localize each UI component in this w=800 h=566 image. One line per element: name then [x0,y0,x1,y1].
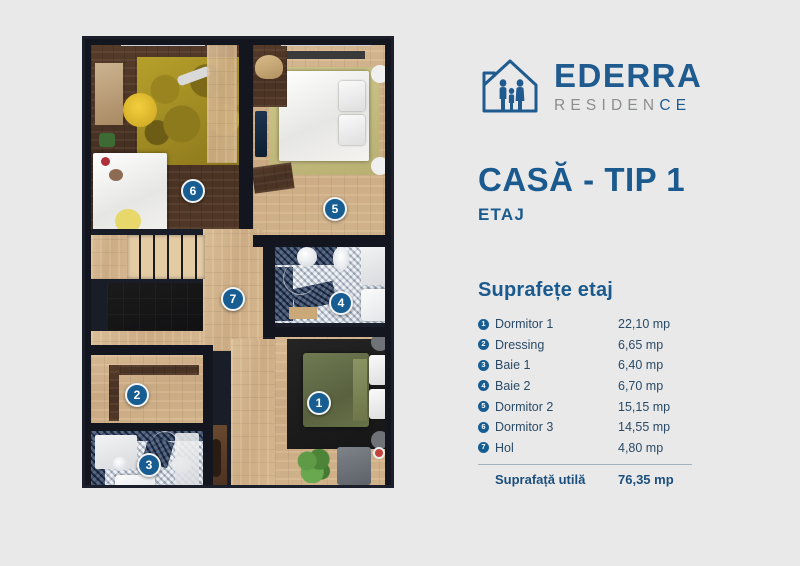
badge-label: 7 [230,292,237,306]
table-divider [478,464,692,466]
row-number: 2 [478,339,489,350]
room-dormitor-2 [253,45,391,241]
room-dormitor-1 [275,331,391,488]
row-number: 4 [478,380,489,391]
row-label: Baie 2 [495,377,618,395]
page-subtitle: ETAJ [478,205,778,225]
total-row: Suprafață utilă 76,35 mp [478,472,692,487]
room-dormitor-3 [91,45,239,229]
row-number: 6 [478,422,489,433]
badge-label: 5 [332,202,339,216]
badge-label: 2 [134,388,141,402]
row-value: 6,65 mp [618,336,692,354]
row-value: 6,40 mp [618,356,692,374]
badge-room-4[interactable]: 4 [329,291,353,315]
row-label: Dormitor 2 [495,398,618,416]
brand-subtitle-part2: CE [659,97,691,114]
table-row: 4 Baie 2 6,70 mp [478,377,692,395]
row-value: 22,10 mp [618,315,692,333]
row-value: 6,70 mp [618,377,692,395]
row-label: Dressing [495,336,618,354]
badge-label: 4 [338,296,345,310]
total-value: 76,35 mp [618,472,692,487]
badge-room-3[interactable]: 3 [137,453,161,477]
row-number: 3 [478,360,489,371]
areas-heading: Suprafețe etaj [478,279,692,302]
info-panel: EDERRA RESIDENCE CASĂ - TIP 1 ETAJ Supra… [478,55,778,487]
table-row: 1 Dormitor 1 22,10 mp [478,315,692,333]
badge-label: 6 [190,184,197,198]
table-row: 5 Dormitor 2 15,15 mp [478,398,692,416]
badge-room-2[interactable]: 2 [125,383,149,407]
brand-subtitle: RESIDENCE [554,97,702,115]
row-number: 7 [478,442,489,453]
brand-name: EDERRA [554,59,702,92]
page-title: CASĂ - TIP 1 [478,163,778,196]
table-row: 2 Dressing 6,65 mp [478,336,692,354]
total-label: Suprafață utilă [495,472,618,487]
brand-header: EDERRA RESIDENCE [478,55,778,117]
page-root: 6 5 7 [0,0,800,566]
badge-label: 3 [146,458,153,472]
row-label: Dormitor 1 [495,315,618,333]
staircase [127,235,205,279]
brand-subtitle-part1: RESIDEN [554,97,659,114]
house-family-icon [478,55,542,117]
row-label: Hol [495,439,618,457]
badge-room-6[interactable]: 6 [181,179,205,203]
row-number: 1 [478,319,489,330]
brand-text: EDERRA RESIDENCE [554,57,702,115]
row-value: 15,15 mp [618,398,692,416]
title-block: CASĂ - TIP 1 ETAJ [478,163,778,225]
row-value: 4,80 mp [618,439,692,457]
row-label: Dormitor 3 [495,418,618,436]
badge-label: 1 [316,396,323,410]
areas-table: Suprafețe etaj 1 Dormitor 1 22,10 mp 2 D… [478,279,692,487]
row-number: 5 [478,401,489,412]
floorplan-image: 6 5 7 [82,36,394,488]
row-value: 14,55 mp [618,418,692,436]
row-label: Baie 1 [495,356,618,374]
badge-room-5[interactable]: 5 [323,197,347,221]
badge-room-1[interactable]: 1 [307,391,331,415]
table-row: 7 Hol 4,80 mp [478,439,692,457]
table-row: 3 Baie 1 6,40 mp [478,356,692,374]
table-row: 6 Dormitor 3 14,55 mp [478,418,692,436]
hall-lower [231,339,275,488]
badge-room-7[interactable]: 7 [221,287,245,311]
